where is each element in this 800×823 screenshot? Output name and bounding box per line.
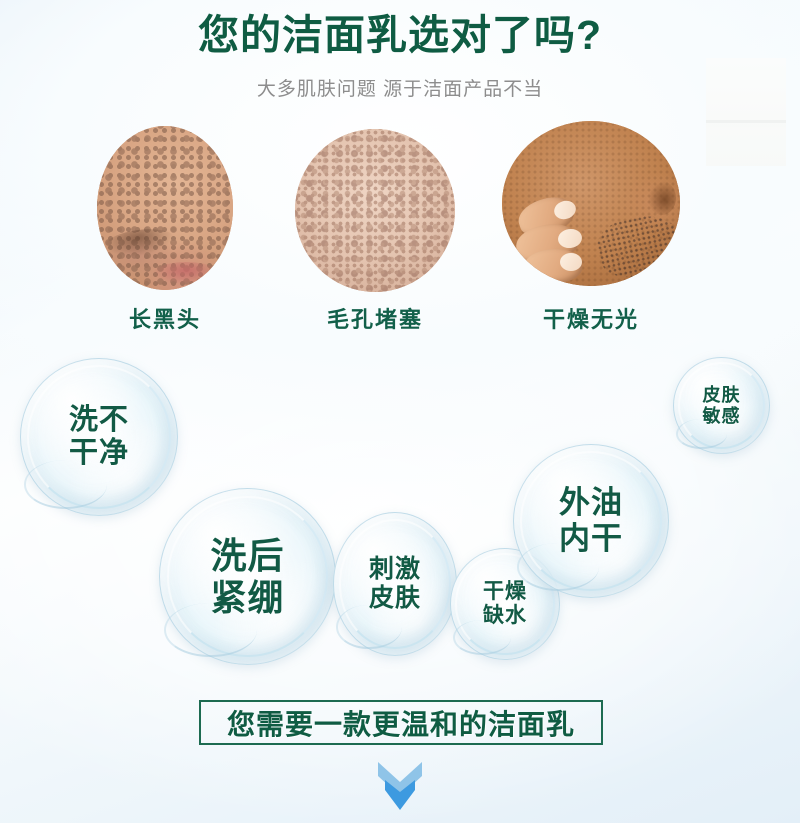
bubble-label: 干燥 缺水 (483, 580, 527, 628)
bubble-line-1: 刺激 (369, 555, 421, 583)
bubble-line-2: 紧绷 (210, 577, 284, 618)
double-chevron-down-icon (372, 760, 428, 812)
bubble-line-1: 干燥 (483, 580, 527, 603)
bubble-line-1: 洗后 (210, 535, 284, 576)
blackhead-nose-photo (97, 126, 233, 290)
pore-dots (295, 129, 455, 292)
dry-dull-skin-photo (502, 121, 680, 286)
photo-caption-dry-dull: 干燥无光 (486, 307, 696, 333)
bubble-label: 洗不 干净 (69, 404, 129, 470)
fingernail-bottom (560, 253, 582, 271)
bubble-oily-outside-dry-inside: 外油 内干 (513, 444, 669, 598)
bubble-irritated-skin: 刺激 皮肤 (333, 512, 457, 656)
bubble-line-2: 干净 (69, 437, 129, 469)
bubble-tight-after-wash: 洗后 紧绷 (159, 488, 336, 665)
bubble-line-2: 皮肤 (369, 584, 421, 612)
scroll-down-arrow (0, 760, 800, 815)
clogged-pores-photo (295, 129, 455, 292)
lip-edge (153, 262, 219, 284)
nostril-shadow (648, 181, 676, 215)
bubble-line-2: 敏感 (703, 406, 741, 426)
cta-banner: 您需要一款更温和的洁面乳 (199, 700, 603, 745)
corner-white-artifact (706, 58, 786, 166)
bubble-line-2: 缺水 (483, 604, 527, 627)
bubble-line-1: 洗不 (69, 404, 129, 436)
page-title: 您的洁面乳选对了吗? (0, 12, 800, 58)
photo-caption-clogged-pores: 毛孔堵塞 (270, 307, 480, 333)
bubble-sensitive-skin: 皮肤 敏感 (673, 357, 770, 454)
cta-text: 您需要一款更温和的洁面乳 (227, 703, 575, 743)
bubble-not-clean: 洗不 干净 (20, 358, 178, 516)
photo-caption-blackheads: 长黑头 (60, 307, 270, 333)
bubble-label: 外油 内干 (559, 485, 623, 557)
bubble-label: 皮肤 敏感 (703, 385, 741, 427)
bubble-line-1: 外油 (559, 485, 623, 520)
bubble-line-2: 内干 (559, 521, 623, 556)
bubble-line-1: 皮肤 (703, 385, 741, 405)
bubble-label: 刺激 皮肤 (369, 555, 421, 613)
page-subtitle: 大多肌肤问题 源于洁面产品不当 (0, 78, 800, 102)
bubble-label: 洗后 紧绷 (210, 535, 284, 619)
promo-page: 您的洁面乳选对了吗? 大多肌肤问题 源于洁面产品不当 长黑头 毛孔堵塞 干燥无光… (0, 0, 800, 823)
